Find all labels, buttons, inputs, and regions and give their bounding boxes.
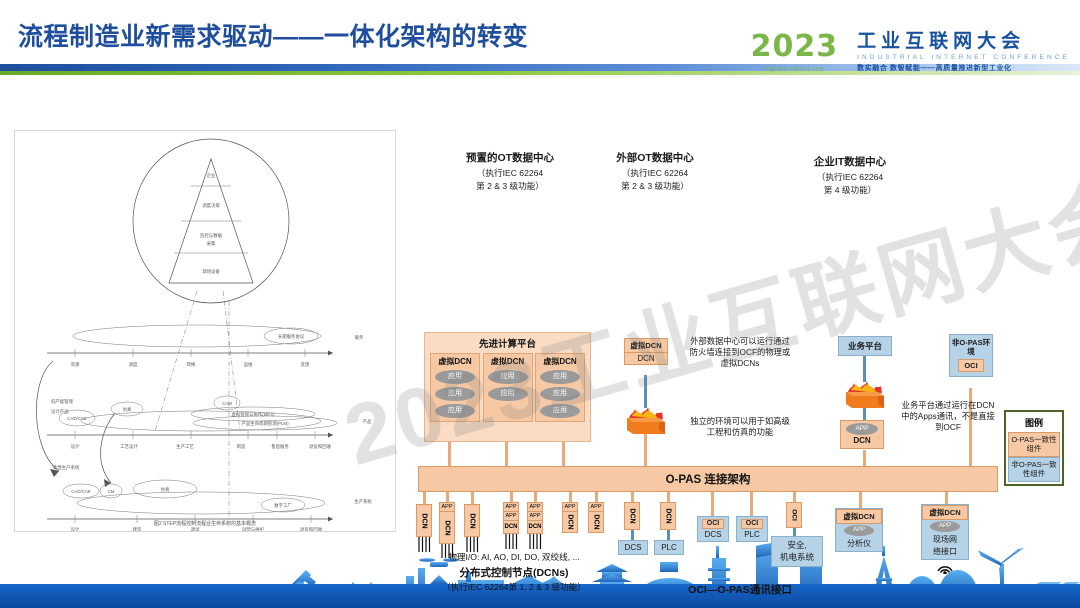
dcn-node[interactable]: DCN	[416, 504, 432, 537]
svg-text:CM: CM	[108, 489, 115, 494]
oci-badge[interactable]: OCI	[702, 519, 724, 529]
virtual-dcn-header: 虚拟DCN	[536, 356, 584, 367]
safety-connector	[793, 528, 796, 536]
non-opas-environment[interactable]: 非O-PAS环境 OCI	[949, 334, 993, 377]
dcn-drop-2	[446, 492, 449, 502]
opas-bar-label: O-PAS 连接架构	[666, 471, 751, 487]
dcn-drop-5	[534, 492, 537, 502]
svg-text:退役和回收: 退役和回收	[309, 443, 332, 450]
dcs-label: DCS	[698, 530, 728, 539]
svg-text:CAD/CAE: CAD/CAE	[67, 416, 87, 421]
column-title: 外部OT数据中心	[580, 150, 730, 165]
svg-text:低产能管理: 低产能管理	[51, 398, 74, 405]
legend-item-non-opas: 非O-PAS一致性组件	[1008, 457, 1060, 482]
svg-text:资源: 资源	[71, 361, 80, 368]
svg-text:企业: 企业	[207, 172, 216, 178]
field-line1: 现场网	[922, 534, 968, 547]
logo-english-name: INDUSTRIAL INTERNET CONFERENCE	[857, 54, 1070, 61]
app-oval[interactable]: 应用	[435, 370, 475, 384]
dcn-app-label: APP	[503, 502, 519, 511]
virtual-dcn-header: 虚拟DCN	[922, 505, 968, 520]
slide-header: 流程制造业新需求驱动——一体化架构的转变 2023 中国·苏州 8月14日-15…	[0, 0, 1080, 108]
app-oval[interactable]: 应用	[488, 387, 528, 401]
firewall-icon-external	[625, 404, 667, 438]
legend-title: 图例	[1008, 414, 1060, 432]
virtual-dcn-header: 虚拟DCN	[836, 509, 882, 524]
legacy-lifecycle-figure: 企业 调度决策 监控与数据 采集 现场设备 资源 调度 转换 运维 反馈	[14, 130, 396, 532]
dcn-label: DCN	[529, 524, 542, 530]
dcn-label: DCN	[629, 508, 636, 523]
io-wires	[503, 534, 519, 550]
app-oval[interactable]: 应用	[435, 387, 475, 401]
dcn-app-label: APP	[588, 502, 604, 511]
note-external-datacenter: 外部数据中心可以运行通过防火墙连接到OCF的物理或虚拟DCNs	[688, 336, 792, 370]
svg-text:设计: 设计	[71, 443, 80, 450]
svg-text:虚拟管理与协作(MES): 虚拟管理与协作(MES)	[231, 411, 275, 418]
wireless-icon	[936, 560, 954, 574]
logo-text-block: 工业互联网大会 INDUSTRIAL INTERNET CONFERENCE 数…	[848, 32, 1070, 73]
safety-system-node[interactable]: 安全, 机电系统	[771, 536, 823, 567]
dcn-app-label: APP	[527, 511, 543, 520]
page-title: 流程制造业新需求驱动——一体化架构的转变	[18, 17, 528, 53]
dcn-label: DCN	[469, 513, 476, 528]
oci-caption: OCI—O-PAS通讯接口	[640, 580, 840, 597]
svg-text:服务: 服务	[355, 334, 364, 341]
app-oval[interactable]: 应用	[540, 387, 580, 401]
svg-text:调度: 调度	[129, 361, 138, 368]
io-wires	[527, 534, 543, 550]
logo-year-subtitle: 中国·苏州 8月14日-15日	[765, 66, 825, 73]
svg-text:制造: 制造	[237, 443, 246, 450]
dcn-label: DCN	[444, 520, 451, 535]
dcn-scope-text: （执行IEC 62264第 1, 2 & 3 级功能）	[408, 581, 620, 593]
svg-text:工艺设计: 工艺设计	[120, 443, 138, 450]
app-oval[interactable]: 应用	[488, 370, 528, 384]
svg-text:生产系统: 生产系统	[354, 498, 372, 505]
advanced-compute-platform: 先进计算平台 虚拟DCN 应用 应用 应用 虚拟DCN 应用 应用 虚拟DCN …	[424, 332, 591, 442]
field-line2: 络接口	[922, 547, 968, 559]
note-business-platform: 业务平台通过运行在DCN中的Apps通讯，不是直接到OCF	[900, 400, 996, 434]
app-oval[interactable]: 应用	[540, 404, 580, 418]
external-dcn-bottom-label: DCN	[624, 353, 668, 365]
svg-text:仿真: 仿真	[123, 406, 132, 413]
legacy-dcn-node[interactable]: DCN	[624, 502, 640, 530]
dcn-body: DCN	[527, 520, 543, 534]
dcn-body: DCN	[562, 511, 578, 533]
oci-plc-node[interactable]: OCI PLC	[736, 516, 768, 542]
legacy-drop-1	[631, 492, 634, 502]
dcn-title-text: 分布式控制节点(DCNs)	[408, 565, 620, 580]
dcn-node[interactable]: APP DCN	[588, 502, 604, 533]
dcn-body: DCN	[588, 511, 604, 533]
app-oval[interactable]: APP	[846, 423, 878, 435]
column-title: 企业IT数据中心	[770, 154, 930, 169]
dcn-body: DCN	[464, 504, 480, 537]
virtual-dcn-column[interactable]: 虚拟DCN 应用 应用	[483, 353, 533, 422]
legend: 图例 O-PAS一致性组件 非O-PAS一致性组件	[1004, 410, 1064, 486]
column-heading-preset-ot: 预置的OT数据中心 （执行IEC 62264 第 2 & 3 级功能）	[430, 150, 590, 192]
oci-drop-2	[750, 492, 753, 516]
logo-year-block: 2023 中国·苏州 8月14日-15日	[751, 32, 848, 73]
slide-body: 2023工业互联网大会 企业 调度决策 监控与数据 采集 现场设备	[0, 108, 1080, 538]
svg-text:生产工艺: 生产工艺	[176, 443, 194, 450]
svg-text:转换: 转换	[187, 361, 196, 368]
external-dcn-top-label: 虚拟DCN	[624, 338, 668, 353]
dcn-body: DCN	[439, 511, 455, 544]
dcn-label: DCN	[665, 508, 672, 523]
logo-chinese-name: 工业互联网大会	[857, 32, 1070, 52]
dcn-caption: 物理I/O: AI, AO, DI, DO, 双绞线, ... 分布式控制节点(…	[408, 551, 620, 593]
dcn-node[interactable]: APP DCN	[562, 502, 578, 533]
virtual-dcn-column[interactable]: 虚拟DCN 应用 应用 应用	[430, 353, 480, 422]
app-oval[interactable]: 应用	[540, 370, 580, 384]
figure-caption: 图2 STEP流程控制流程业生命系统的基本概念	[15, 520, 395, 527]
svg-text:运维: 运维	[244, 361, 253, 368]
column-line2: （执行IEC 62264	[580, 167, 730, 179]
column-line3: 第 4 级功能）	[770, 184, 930, 196]
field-drop	[945, 492, 948, 504]
virtual-dcn-column[interactable]: 虚拟DCN 应用 应用 应用	[535, 353, 585, 422]
svg-text:监控与数据: 监控与数据	[200, 232, 223, 239]
dcn-app-label: APP	[562, 502, 578, 511]
oci-drop-1	[711, 492, 714, 516]
column-heading-enterprise-it: 企业IT数据中心 （执行IEC 62264 第 4 级功能）	[770, 154, 930, 196]
column-heading-external-ot: 外部OT数据中心 （执行IEC 62264 第 2 & 3 级功能）	[580, 150, 730, 192]
svg-text:现场设备: 现场设备	[202, 268, 220, 275]
non-opas-env-label: 非O-PAS环境	[950, 338, 992, 356]
column-line3: 第 2 & 3 级功能）	[580, 180, 730, 192]
dcn-drop-1	[423, 492, 426, 504]
external-virtual-dcn[interactable]: 虚拟DCN DCN	[624, 338, 668, 365]
safety-line2: 机电系统	[772, 551, 822, 563]
oci-badge[interactable]: OCI	[958, 359, 984, 372]
legend-item-opas: O-PAS一致性组件	[1008, 432, 1060, 457]
svg-text:调度决策: 调度决策	[202, 202, 220, 209]
legacy-dcs-label[interactable]: DCS	[618, 540, 648, 555]
dcn-label: DCN	[593, 514, 600, 529]
enterprise-dcn[interactable]: APP DCN	[840, 420, 884, 449]
app-oval[interactable]: 应用	[435, 404, 475, 418]
dcn-body: DCN	[503, 520, 519, 534]
dcn-drop-6	[569, 492, 572, 502]
dcn-io-text: 物理I/O: AI, AO, DI, DO, 双绞线, ...	[408, 551, 620, 563]
svg-text:CAD/CAE: CAD/CAE	[71, 489, 91, 494]
svg-text:数字工厂: 数字工厂	[274, 502, 292, 509]
virtual-dcn-header: 虚拟DCN	[484, 356, 532, 367]
column-title: 预置的OT数据中心	[430, 150, 590, 165]
analyzer-drop	[859, 492, 862, 508]
safety-line1: 安全,	[772, 539, 822, 551]
dcn-app-label: APP	[439, 502, 455, 511]
legacy-plc-label[interactable]: PLC	[654, 540, 684, 555]
legacy-dcn-node[interactable]: DCN	[660, 502, 676, 530]
legacy-figure-svg: 企业 调度决策 监控与数据 采集 现场设备 资源 调度 转换 运维 反馈	[15, 131, 395, 531]
column-line3: 第 2 & 3 级功能）	[430, 180, 590, 192]
acp-link-3	[562, 442, 565, 468]
note-standalone-env: 独立的环境可以用于如高级工程和仿真的功能	[688, 416, 792, 438]
svg-text:柔性生产系统: 柔性生产系统	[53, 464, 80, 471]
oci-badge: OCI	[791, 509, 798, 521]
safety-drop	[793, 492, 796, 502]
column-line2: （执行IEC 62264	[430, 167, 590, 179]
dcn-label: DCN	[567, 514, 574, 529]
svg-text:产品生命周期管理(PLM): 产品生命周期管理(PLM)	[241, 420, 289, 427]
app-oval[interactable]: APP	[844, 525, 874, 536]
oci-dcs-node[interactable]: OCI DCS	[697, 516, 729, 542]
legacy-connector-1	[631, 530, 634, 540]
logo-subtitle: 数实融合 数智赋能——高质量推进新型工业化	[857, 63, 1070, 73]
dcn-body: DCN	[660, 502, 676, 530]
analyzer-node[interactable]: 虚拟DCN APP 分析仪	[835, 508, 883, 552]
external-firewall-link	[644, 434, 647, 468]
svg-text:长期服务协议: 长期服务协议	[278, 333, 305, 340]
business-platform[interactable]: 业务平台	[838, 336, 892, 356]
conference-logo: 2023 中国·苏州 8月14日-15日 工业互联网大会 INDUSTRIAL …	[751, 32, 1070, 80]
dcn-body: DCN	[416, 504, 432, 537]
dcn-app-label: APP	[527, 502, 543, 511]
field-network-node[interactable]: 虚拟DCN APP 现场网 络接口	[921, 504, 969, 560]
opas-connectivity-bar[interactable]: O-PAS 连接架构	[418, 466, 998, 492]
firewall-icon-enterprise	[844, 378, 886, 412]
analyzer-label: 分析仪	[836, 538, 882, 551]
dcn-label: DCN	[505, 524, 518, 530]
oci-badge[interactable]: OCI	[741, 519, 763, 529]
dcn-node[interactable]: DCN	[464, 504, 480, 537]
acp-title: 先进计算平台	[425, 336, 590, 350]
dcn-drop-7	[595, 492, 598, 502]
dcn-app-label: APP	[503, 511, 519, 520]
plc-label: PLC	[737, 530, 767, 539]
oci-body: OCI	[786, 502, 802, 528]
dcn-label: DCN	[421, 513, 428, 528]
legacy-connector-2	[667, 530, 670, 540]
acp-link-2	[505, 442, 508, 468]
legacy-drop-2	[667, 492, 670, 502]
svg-text:售后服务: 售后服务	[271, 443, 289, 450]
dcn-body: DCN	[624, 502, 640, 530]
virtual-dcn-header: 虚拟DCN	[431, 356, 479, 367]
column-line2: （执行IEC 62264	[770, 171, 930, 183]
dcn-drop-4	[510, 492, 513, 502]
oci-caption-text: OCI—O-PAS通讯接口	[640, 582, 840, 597]
svg-text:采集: 采集	[207, 240, 216, 247]
svg-text:反馈: 反馈	[301, 361, 310, 368]
dcn-label: DCN	[841, 436, 883, 445]
svg-text:产品: 产品	[363, 418, 372, 425]
dcn-node[interactable]: APP APP DCN	[503, 502, 519, 534]
logo-year: 2023	[751, 32, 839, 62]
svg-text:仿真: 仿真	[161, 486, 170, 493]
svg-text:CAM: CAM	[222, 401, 232, 406]
acp-link-1	[448, 442, 451, 468]
app-oval[interactable]: APP	[930, 521, 960, 532]
dcn-drop-3	[471, 492, 474, 504]
safety-oci-node[interactable]: OCI	[786, 502, 802, 528]
dcn-node[interactable]: APP DCN	[439, 502, 455, 544]
dcn-node[interactable]: APP APP DCN	[527, 502, 543, 534]
